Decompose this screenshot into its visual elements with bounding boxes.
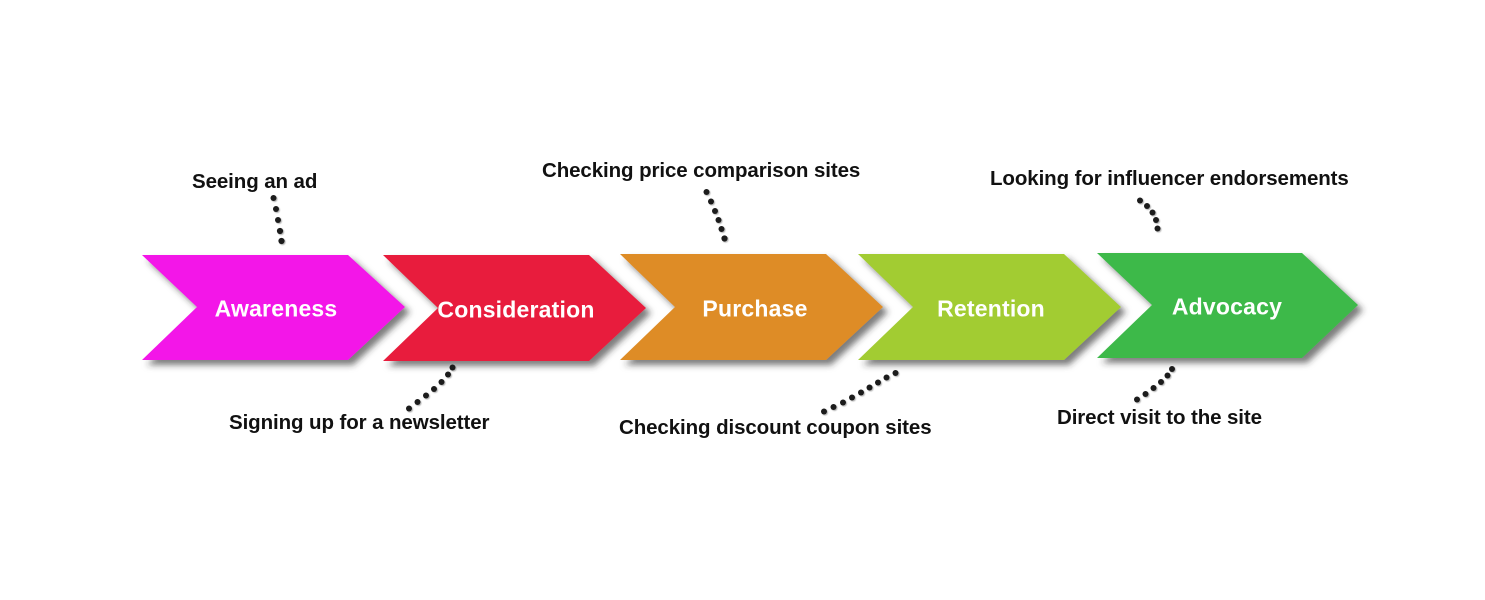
chevron-purchase[interactable] (620, 254, 883, 360)
touchpoint-looking-influencer-endorsements: Looking for influencer endorsements (990, 169, 1349, 190)
connector-direct-visit-site (1134, 366, 1175, 403)
connector-looking-influencer-endorsements (1137, 198, 1161, 232)
chevron-consideration[interactable] (383, 255, 646, 361)
touchpoint-signing-up-newsletter: Signing up for a newsletter (229, 413, 489, 434)
chevron-advocacy[interactable] (1097, 253, 1358, 358)
touchpoint-checking-price-comparison: Checking price comparison sites (542, 161, 860, 182)
connector-signing-up-newsletter (406, 365, 456, 412)
touchpoint-checking-discount-coupon: Checking discount coupon sites (619, 418, 932, 439)
connector-checking-price-comparison (704, 189, 728, 242)
funnel-svg (0, 0, 1485, 600)
chevron-retention[interactable] (858, 254, 1121, 360)
connector-seeing-an-ad (271, 195, 285, 244)
chevron-awareness[interactable] (142, 255, 405, 360)
connector-checking-discount-coupon (821, 370, 899, 415)
touchpoint-direct-visit-site: Direct visit to the site (1057, 408, 1262, 429)
diagram-canvas: Awareness Consideration Purchase Retenti… (0, 0, 1485, 600)
touchpoint-seeing-an-ad: Seeing an ad (192, 172, 317, 193)
chevron-arrows (142, 253, 1358, 361)
